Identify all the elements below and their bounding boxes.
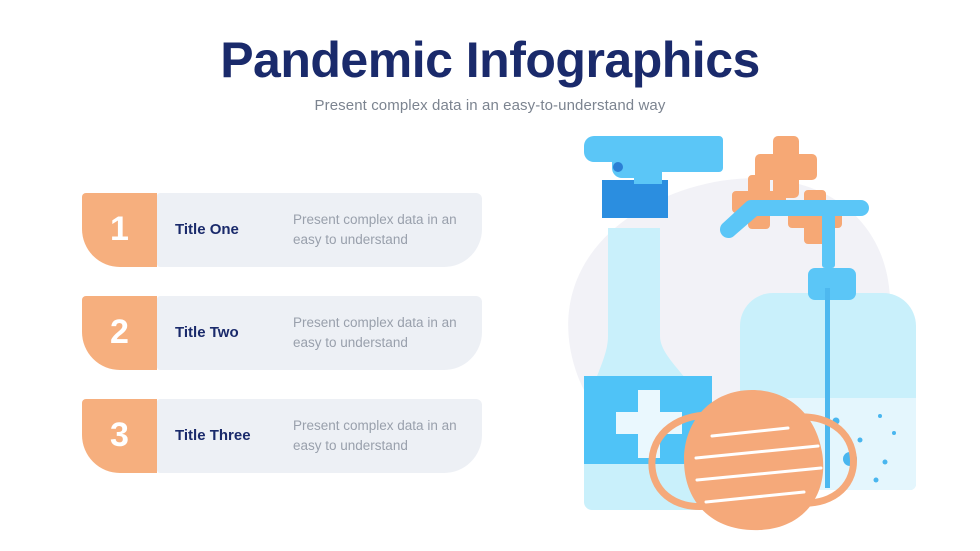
step-title: Title One [175,221,293,239]
page-title: Pandemic Infographics [0,34,980,87]
step-title: Title Two [175,324,293,342]
step-description: Present complex data in an easy to under… [293,210,472,251]
step-badge-3: 3 [82,399,157,473]
step-number: 3 [110,418,129,454]
step-description: Present complex data in an easy to under… [293,313,472,354]
list-item[interactable]: 2 Title Two Present complex data in an e… [82,296,482,370]
page-subtitle: Present complex data in an easy-to-under… [0,97,980,114]
infographic-list: 1 Title One Present complex data in an e… [82,193,482,473]
slide-canvas: Pandemic Infographics Present complex da… [0,0,980,551]
list-item[interactable]: 3 Title Three Present complex data in an… [82,399,482,473]
step-description: Present complex data in an easy to under… [293,416,472,457]
trigger-dot-icon [613,162,623,172]
step-badge-1: 1 [82,193,157,267]
step-number: 1 [110,212,129,248]
step-panel-2: Title Two Present complex data in an eas… [157,296,482,370]
header: Pandemic Infographics Present complex da… [0,34,980,114]
step-number: 2 [110,315,129,351]
step-panel-3: Title Three Present complex data in an e… [157,399,482,473]
step-title: Title Three [175,427,293,445]
hygiene-products-illustration [540,128,980,533]
list-item[interactable]: 1 Title One Present complex data in an e… [82,193,482,267]
step-panel-1: Title One Present complex data in an eas… [157,193,482,267]
step-badge-2: 2 [82,296,157,370]
